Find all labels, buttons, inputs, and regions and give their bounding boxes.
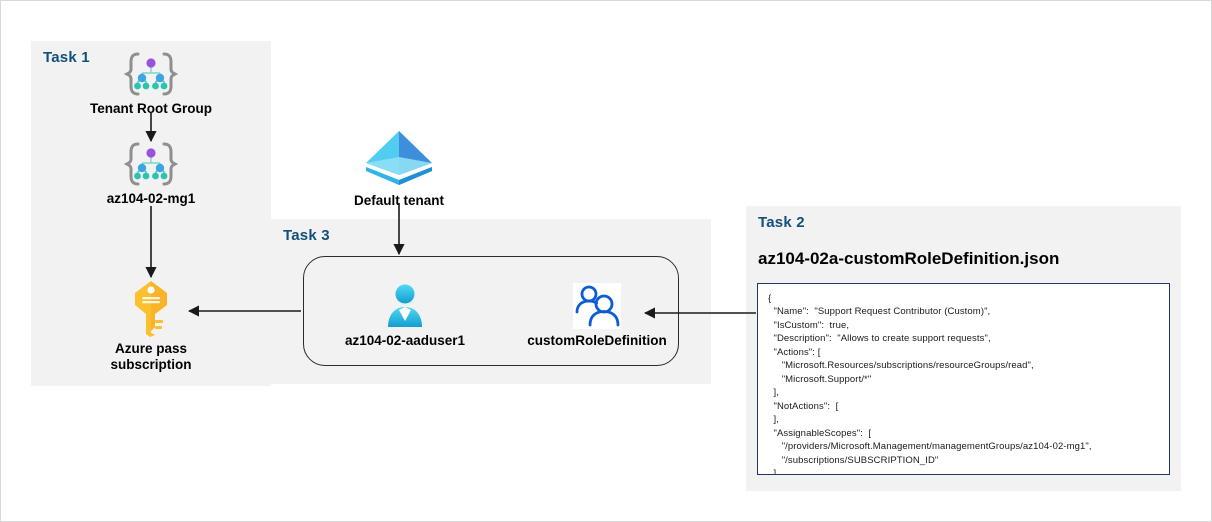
- management-group-label: az104-02-mg1: [107, 191, 196, 207]
- node-custom-role-definition: customRoleDefinition: [517, 283, 677, 349]
- json-filename: az104-02a-customRoleDefinition.json: [758, 249, 1059, 269]
- json-line: ]: [768, 467, 1159, 475]
- azure-ad-tenant-icon: [362, 127, 436, 189]
- custom-role-definition-label: customRoleDefinition: [527, 333, 667, 349]
- json-line: "AssignableScopes": [: [768, 427, 1159, 440]
- subscription-label: Azure pass subscription: [110, 341, 191, 372]
- json-line: "NotActions": [: [768, 400, 1159, 413]
- json-line: "/providers/Microsoft.Management/managem…: [768, 440, 1159, 453]
- task3-label: Task 3: [283, 227, 330, 244]
- json-line: {: [768, 292, 1159, 305]
- json-line: ],: [768, 413, 1159, 426]
- json-line: "Microsoft.Resources/subscriptions/resou…: [768, 359, 1159, 372]
- task2-label: Task 2: [758, 214, 805, 231]
- user-icon: [384, 283, 426, 329]
- json-line: "Name": "Support Request Contributor (Cu…: [768, 305, 1159, 318]
- default-tenant-label: Default tenant: [354, 193, 444, 209]
- node-management-group: az104-02-mg1: [71, 141, 231, 207]
- node-subscription: Azure pass subscription: [71, 279, 231, 372]
- json-line: "Description": "Allows to create support…: [768, 332, 1159, 345]
- json-line: "IsCustom": true,: [768, 319, 1159, 332]
- key-icon: [129, 279, 173, 337]
- node-aad-user: az104-02-aaduser1: [325, 283, 485, 349]
- management-group-icon: [124, 51, 178, 97]
- custom-role-definition-json-card: { "Name": "Support Request Contributor (…: [757, 283, 1170, 475]
- node-default-tenant: Default tenant: [319, 127, 479, 209]
- management-group-icon: [124, 141, 178, 187]
- json-line: "Actions": [: [768, 346, 1159, 359]
- json-line: "/subscriptions/SUBSCRIPTION_ID": [768, 454, 1159, 467]
- json-line: "Microsoft.Support/*": [768, 373, 1159, 386]
- tenant-root-group-label: Tenant Root Group: [90, 101, 212, 117]
- diagram-canvas: Task 1: [0, 0, 1212, 522]
- json-line: ],: [768, 386, 1159, 399]
- node-tenant-root-group: Tenant Root Group: [71, 51, 231, 117]
- aad-user-label: az104-02-aaduser1: [345, 333, 465, 349]
- users-group-icon: [573, 283, 621, 329]
